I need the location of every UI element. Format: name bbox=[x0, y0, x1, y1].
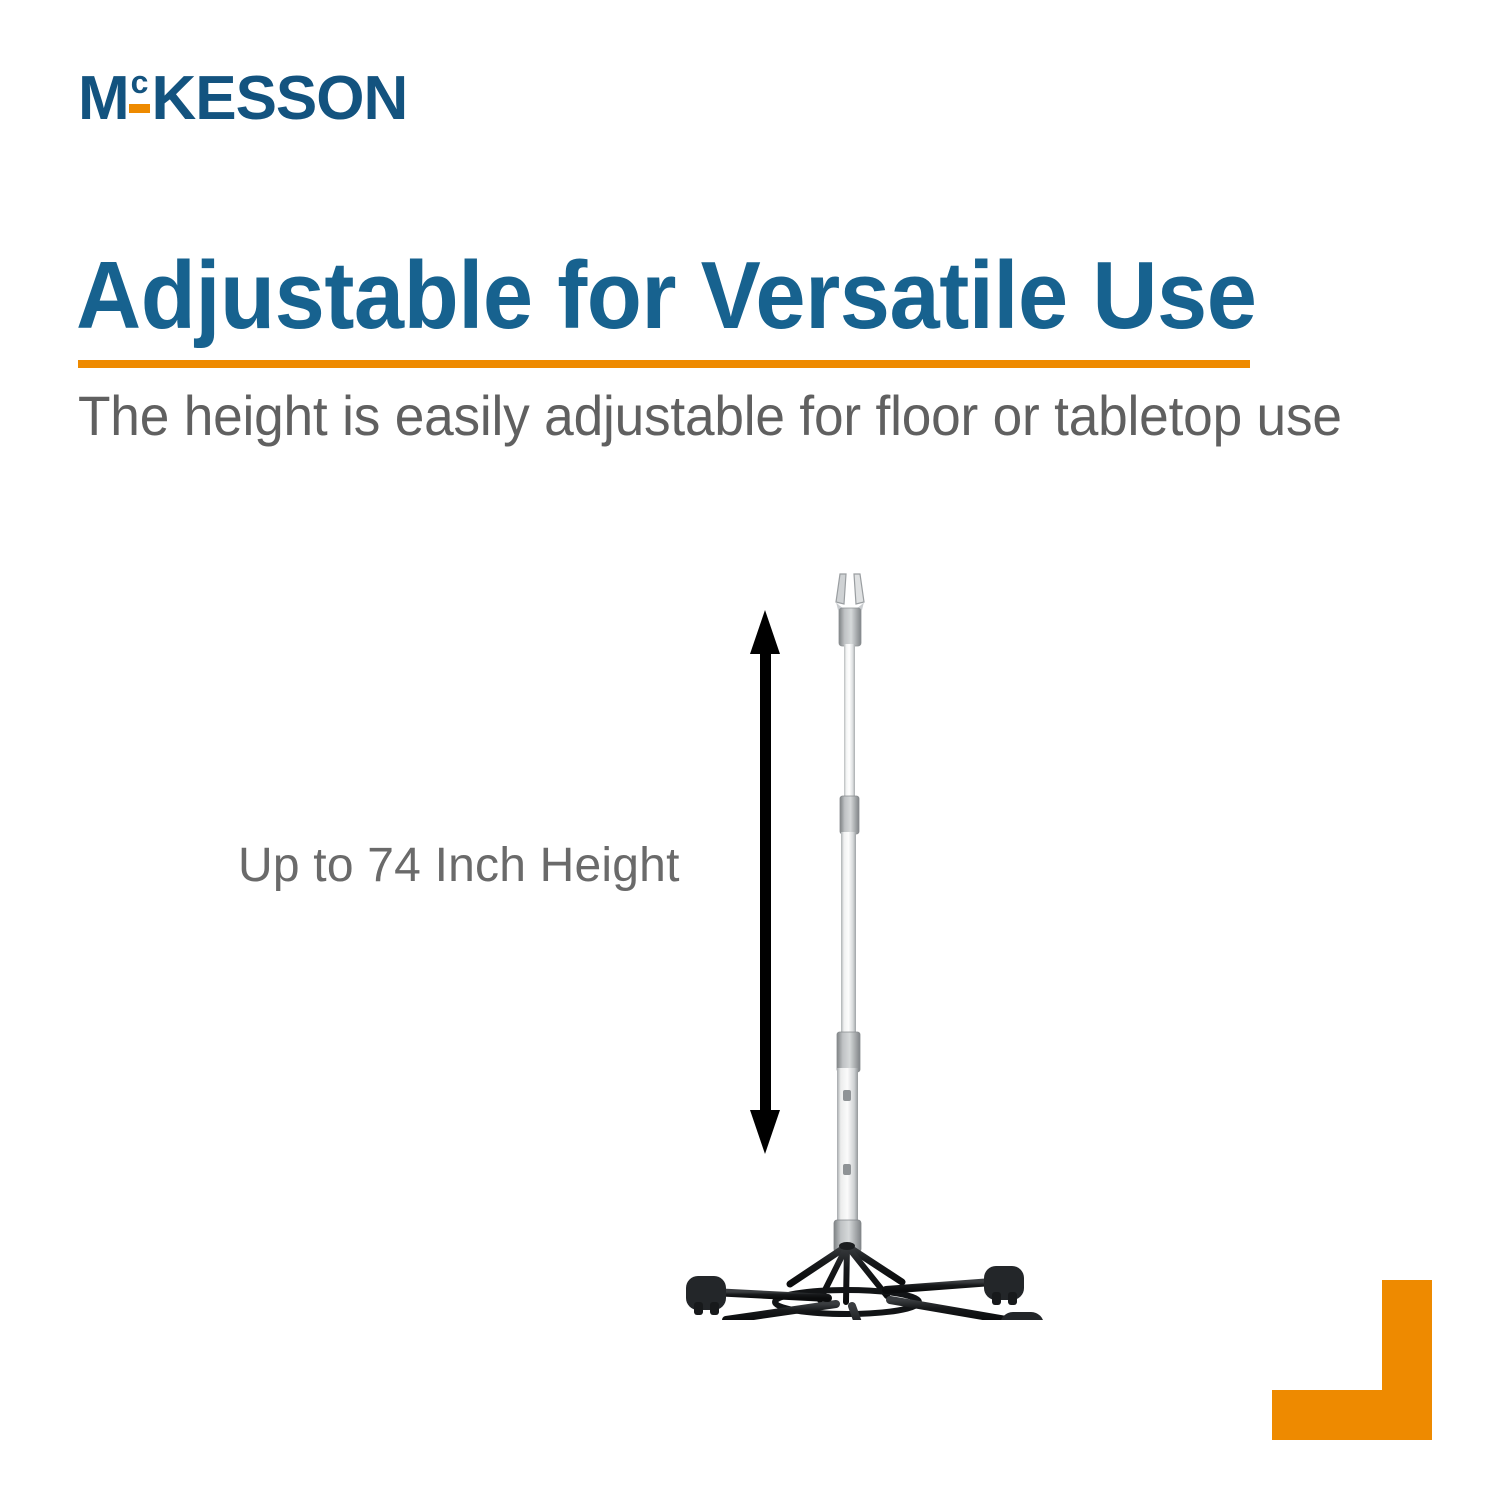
product-image-iv-pole bbox=[640, 560, 1100, 1320]
corner-accent-icon bbox=[1272, 1280, 1432, 1440]
product-base bbox=[668, 1242, 1044, 1320]
pole-collar-upper bbox=[840, 796, 859, 834]
logo-orange-underline bbox=[129, 104, 151, 113]
page-subtitle: The height is easily adjustable for floo… bbox=[78, 384, 1370, 448]
pole-section-middle bbox=[841, 832, 856, 1040]
caster-wheel bbox=[1000, 1312, 1044, 1320]
pole-adjust-knob-upper bbox=[843, 1090, 851, 1101]
pole-adjust-knob-lower bbox=[843, 1164, 851, 1175]
height-callout-label: Up to 74 Inch Height bbox=[238, 838, 680, 893]
pole-collar-lower bbox=[837, 1032, 860, 1072]
logo-letters-kesson: KESSON bbox=[151, 68, 407, 130]
pole-top-hook bbox=[836, 574, 864, 646]
logo-letter-m: M bbox=[78, 68, 129, 130]
slide-canvas: M c KESSON Adjustable for Versatile Use … bbox=[0, 0, 1500, 1500]
page-title: Adjustable for Versatile Use bbox=[76, 248, 1298, 344]
caster-wheel bbox=[984, 1266, 1024, 1305]
pole-section-top bbox=[844, 644, 855, 804]
logo-superscript-c: c bbox=[129, 66, 151, 98]
mckesson-logo: M c KESSON bbox=[78, 68, 407, 130]
caster-wheel bbox=[686, 1276, 726, 1315]
title-underline-rule bbox=[78, 360, 1250, 368]
logo-superscript-c-wrap: c bbox=[129, 68, 151, 100]
